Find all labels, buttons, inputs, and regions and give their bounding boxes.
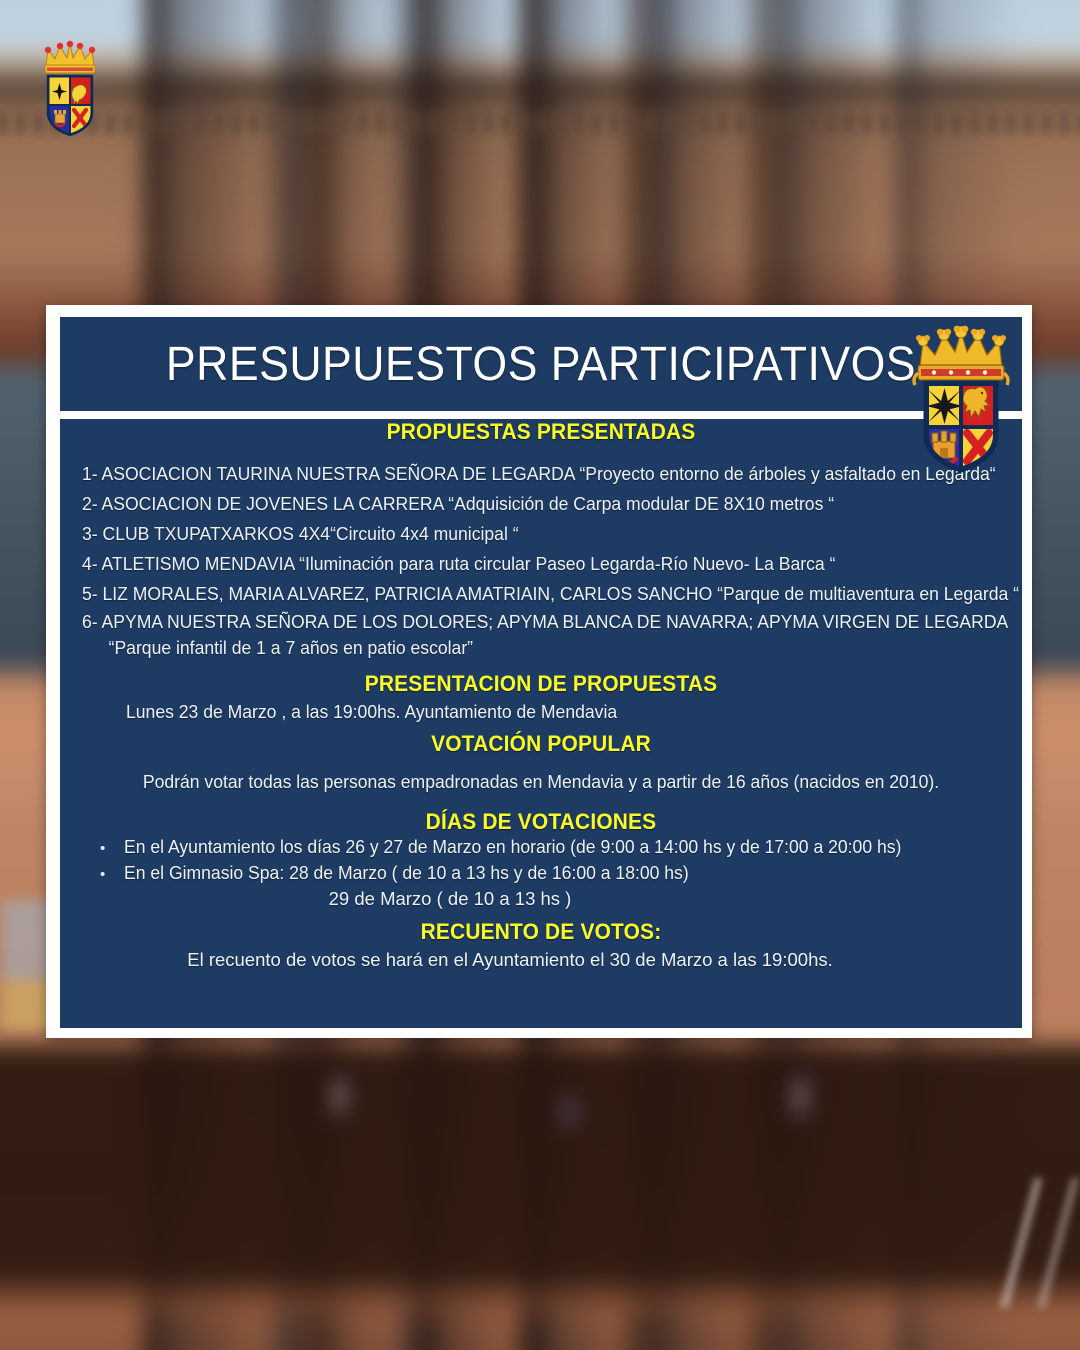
recuento-detail-wrap: El recuento de votos se hará en el Ayunt… <box>60 949 960 971</box>
handrail <box>948 1178 1080 1308</box>
list-item: 3- CLUB TXUPATXARKOS 4X4“Circuito 4x4 mu… <box>82 519 956 549</box>
list-item-label: En el Gimnasio Spa: 28 de Marzo ( de 10 … <box>124 862 689 884</box>
poster-panel-inner: PRESUPUESTOS PARTICIPATIVOS <box>60 317 1022 1028</box>
dias-votaciones-extra-label: 29 de Marzo ( de 10 a 13 hs ) <box>329 888 572 909</box>
section-heading-propuestas: PROPUESTAS PRESENTADAS <box>84 419 998 445</box>
escudo-mendavia-icon <box>36 36 104 140</box>
title-bar: PRESUPUESTOS PARTICIPATIVOS <box>60 317 1022 407</box>
bullet-icon: • <box>100 862 124 888</box>
votacion-detail: Podrán votar todas las personas empadron… <box>84 771 998 793</box>
section-heading-dias-votaciones: DÍAS DE VOTACIONES <box>84 809 998 835</box>
list-item: 1- ASOCIACION TAURINA NUESTRA SEÑORA DE … <box>82 459 956 489</box>
page-title: PRESUPUESTOS PARTICIPATIVOS <box>94 337 989 392</box>
list-item: 6- APYMA NUESTRA SEÑORA DE LOS DOLORES; … <box>82 609 956 635</box>
recuento-detail: El recuento de votos se hará en el Ayunt… <box>187 949 833 970</box>
list-item: 5- LIZ MORALES, MARIA ALVAREZ, PATRICIA … <box>82 579 956 609</box>
dias-votaciones-extra: 29 de Marzo ( de 10 a 13 hs ) <box>60 888 840 910</box>
roof-crenellation <box>0 112 1080 134</box>
presentacion-detail: Lunes 23 de Marzo , a las 19:00hs. Ayunt… <box>126 701 617 723</box>
dias-votaciones-list: • En el Ayuntamiento los días 26 y 27 de… <box>100 836 1000 888</box>
list-item: • En el Ayuntamiento los días 26 y 27 de… <box>100 836 1000 862</box>
title-divider <box>60 411 1022 419</box>
section-heading-recuento: RECUENTO DE VOTOS: <box>84 919 998 945</box>
list-item: 2- ASOCIACION DE JOVENES LA CARRERA “Adq… <box>82 489 956 519</box>
list-item-label: En el Ayuntamiento los días 26 y 27 de M… <box>124 836 901 858</box>
proposals-list: 1- ASOCIACION TAURINA NUESTRA SEÑORA DE … <box>82 459 1002 661</box>
poster-canvas: PRESUPUESTOS PARTICIPATIVOS <box>0 0 1080 1350</box>
poster-panel: PRESUPUESTOS PARTICIPATIVOS <box>46 305 1032 1038</box>
bullet-icon: • <box>100 836 124 862</box>
list-item-continuation: “Parque infantil de 1 a 7 años en patio … <box>82 635 956 661</box>
escudo-mendavia-icon <box>906 321 1016 476</box>
poster-body: PROPUESTAS PRESENTADAS 1- ASOCIACION TAU… <box>60 419 1022 1028</box>
list-item: 4- ATLETISMO MENDAVIA “Iluminación para … <box>82 549 956 579</box>
section-heading-votacion: VOTACIÓN POPULAR <box>84 731 998 757</box>
section-heading-presentacion: PRESENTACION DE PROPUESTAS <box>84 671 998 697</box>
list-item: • En el Gimnasio Spa: 28 de Marzo ( de 1… <box>100 862 1000 888</box>
